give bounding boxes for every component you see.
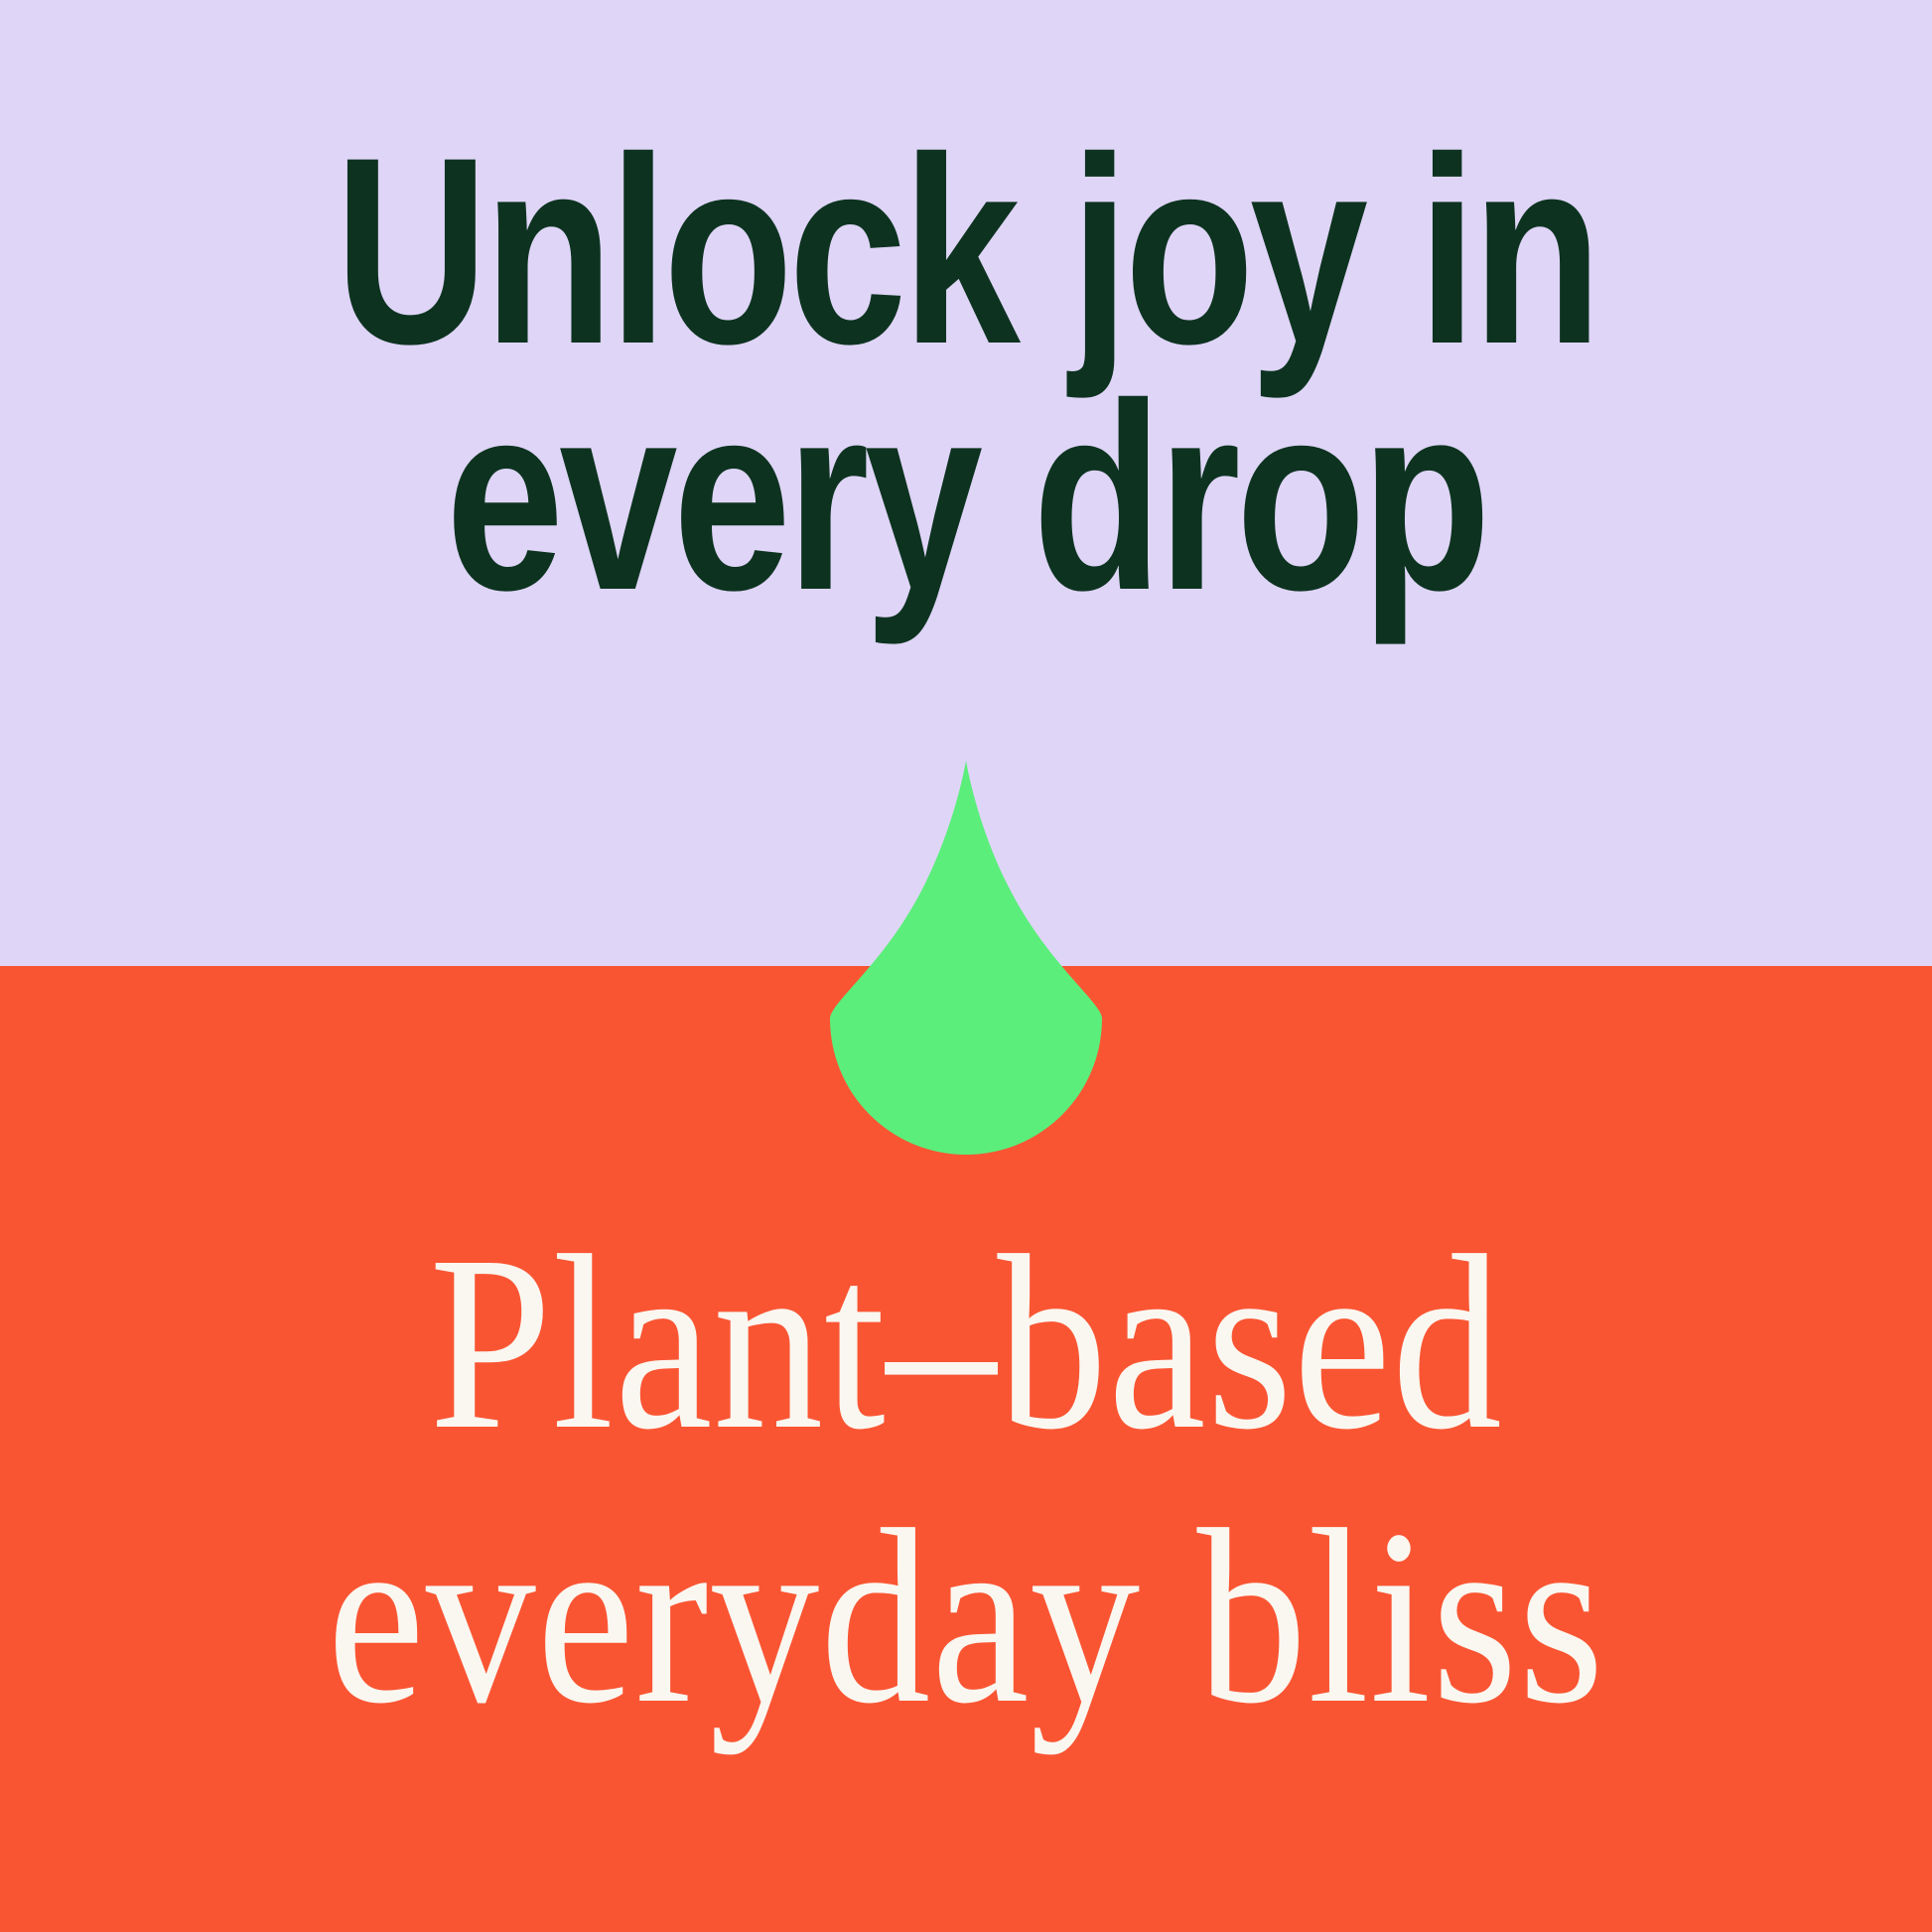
subline-line-1: Plant–based — [116, 1205, 1816, 1479]
subline-line-2: everyday bliss — [116, 1479, 1816, 1753]
poster-canvas: Unlock joy in every drop Plant–based eve… — [0, 0, 1932, 1932]
subline: Plant–based everyday bliss — [116, 1205, 1816, 1753]
water-drop-icon — [830, 759, 1102, 1156]
headline-line-2: every drop — [194, 373, 1739, 620]
headline: Unlock joy in every drop — [194, 0, 1739, 620]
headline-line-1: Unlock joy in — [194, 127, 1739, 373]
water-drop-glyph — [830, 759, 1102, 1156]
